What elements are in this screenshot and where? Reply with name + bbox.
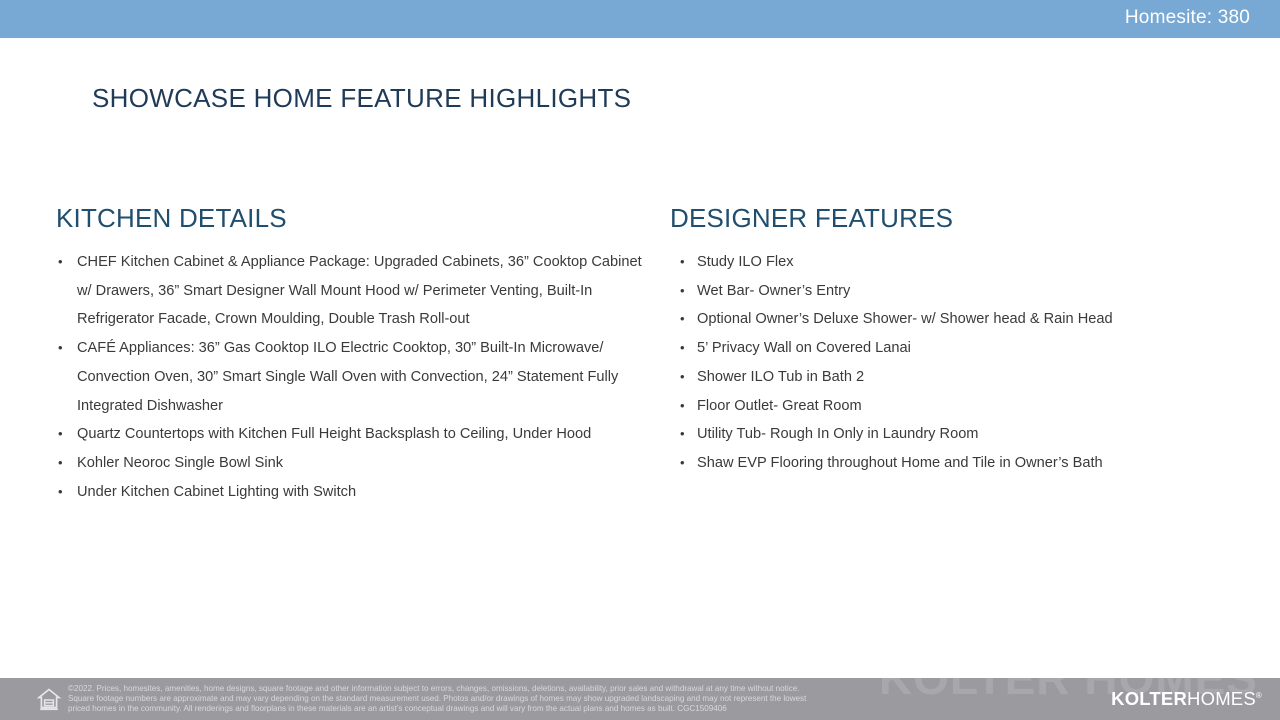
list-item: Shower ILO Tub in Bath 2 — [670, 363, 1260, 392]
kitchen-details-heading: KITCHEN DETAILS — [56, 203, 656, 234]
list-item: CAFÉ Appliances: 36” Gas Cooktop ILO Ele… — [56, 334, 656, 420]
list-item: Kohler Neoroc Single Bowl Sink — [56, 449, 656, 478]
top-blue-bar: Homesite: 380 — [0, 0, 1280, 38]
equal-housing-opportunity-icon — [36, 686, 62, 712]
designer-features-heading: DESIGNER FEATURES — [670, 203, 1260, 234]
list-item: Utility Tub- Rough In Only in Laundry Ro… — [670, 420, 1260, 449]
logo-regular-text: HOMES — [1187, 688, 1256, 709]
list-item: CHEF Kitchen Cabinet & Appliance Package… — [56, 248, 656, 334]
kolter-homes-logo: KOLTERHOMES® — [1111, 688, 1262, 710]
page-title: SHOWCASE HOME FEATURE HIGHLIGHTS — [92, 83, 631, 114]
list-item: 5’ Privacy Wall on Covered Lanai — [670, 334, 1260, 363]
logo-bold-text: KOLTER — [1111, 688, 1187, 709]
disclaimer-line-1: ©2022. Prices, homesites, amenities, hom… — [68, 684, 1088, 694]
registered-trademark-icon: ® — [1256, 691, 1262, 700]
list-item: Wet Bar- Owner’s Entry — [670, 277, 1260, 306]
designer-features-column: DESIGNER FEATURES Study ILO Flex Wet Bar… — [670, 203, 1260, 478]
list-item: Floor Outlet- Great Room — [670, 392, 1260, 421]
list-item: Optional Owner’s Deluxe Shower- w/ Showe… — [670, 305, 1260, 334]
list-item: Study ILO Flex — [670, 248, 1260, 277]
list-item: Shaw EVP Flooring throughout Home and Ti… — [670, 449, 1260, 478]
kitchen-details-column: KITCHEN DETAILS CHEF Kitchen Cabinet & A… — [56, 203, 656, 506]
disclaimer-line-3: priced homes in the community. All rende… — [68, 704, 1088, 714]
homesite-label: Homesite: 380 — [1125, 0, 1250, 38]
list-item: Quartz Countertops with Kitchen Full Hei… — [56, 420, 656, 449]
designer-features-list: Study ILO Flex Wet Bar- Owner’s Entry Op… — [670, 248, 1260, 478]
legal-disclaimer: ©2022. Prices, homesites, amenities, hom… — [68, 684, 1088, 714]
disclaimer-line-2: Square footage numbers are approximate a… — [68, 694, 1088, 704]
kitchen-details-list: CHEF Kitchen Cabinet & Appliance Package… — [56, 248, 656, 506]
list-item: Under Kitchen Cabinet Lighting with Swit… — [56, 478, 656, 507]
slide-canvas: Homesite: 380 SHOWCASE HOME FEATURE HIGH… — [0, 0, 1280, 720]
